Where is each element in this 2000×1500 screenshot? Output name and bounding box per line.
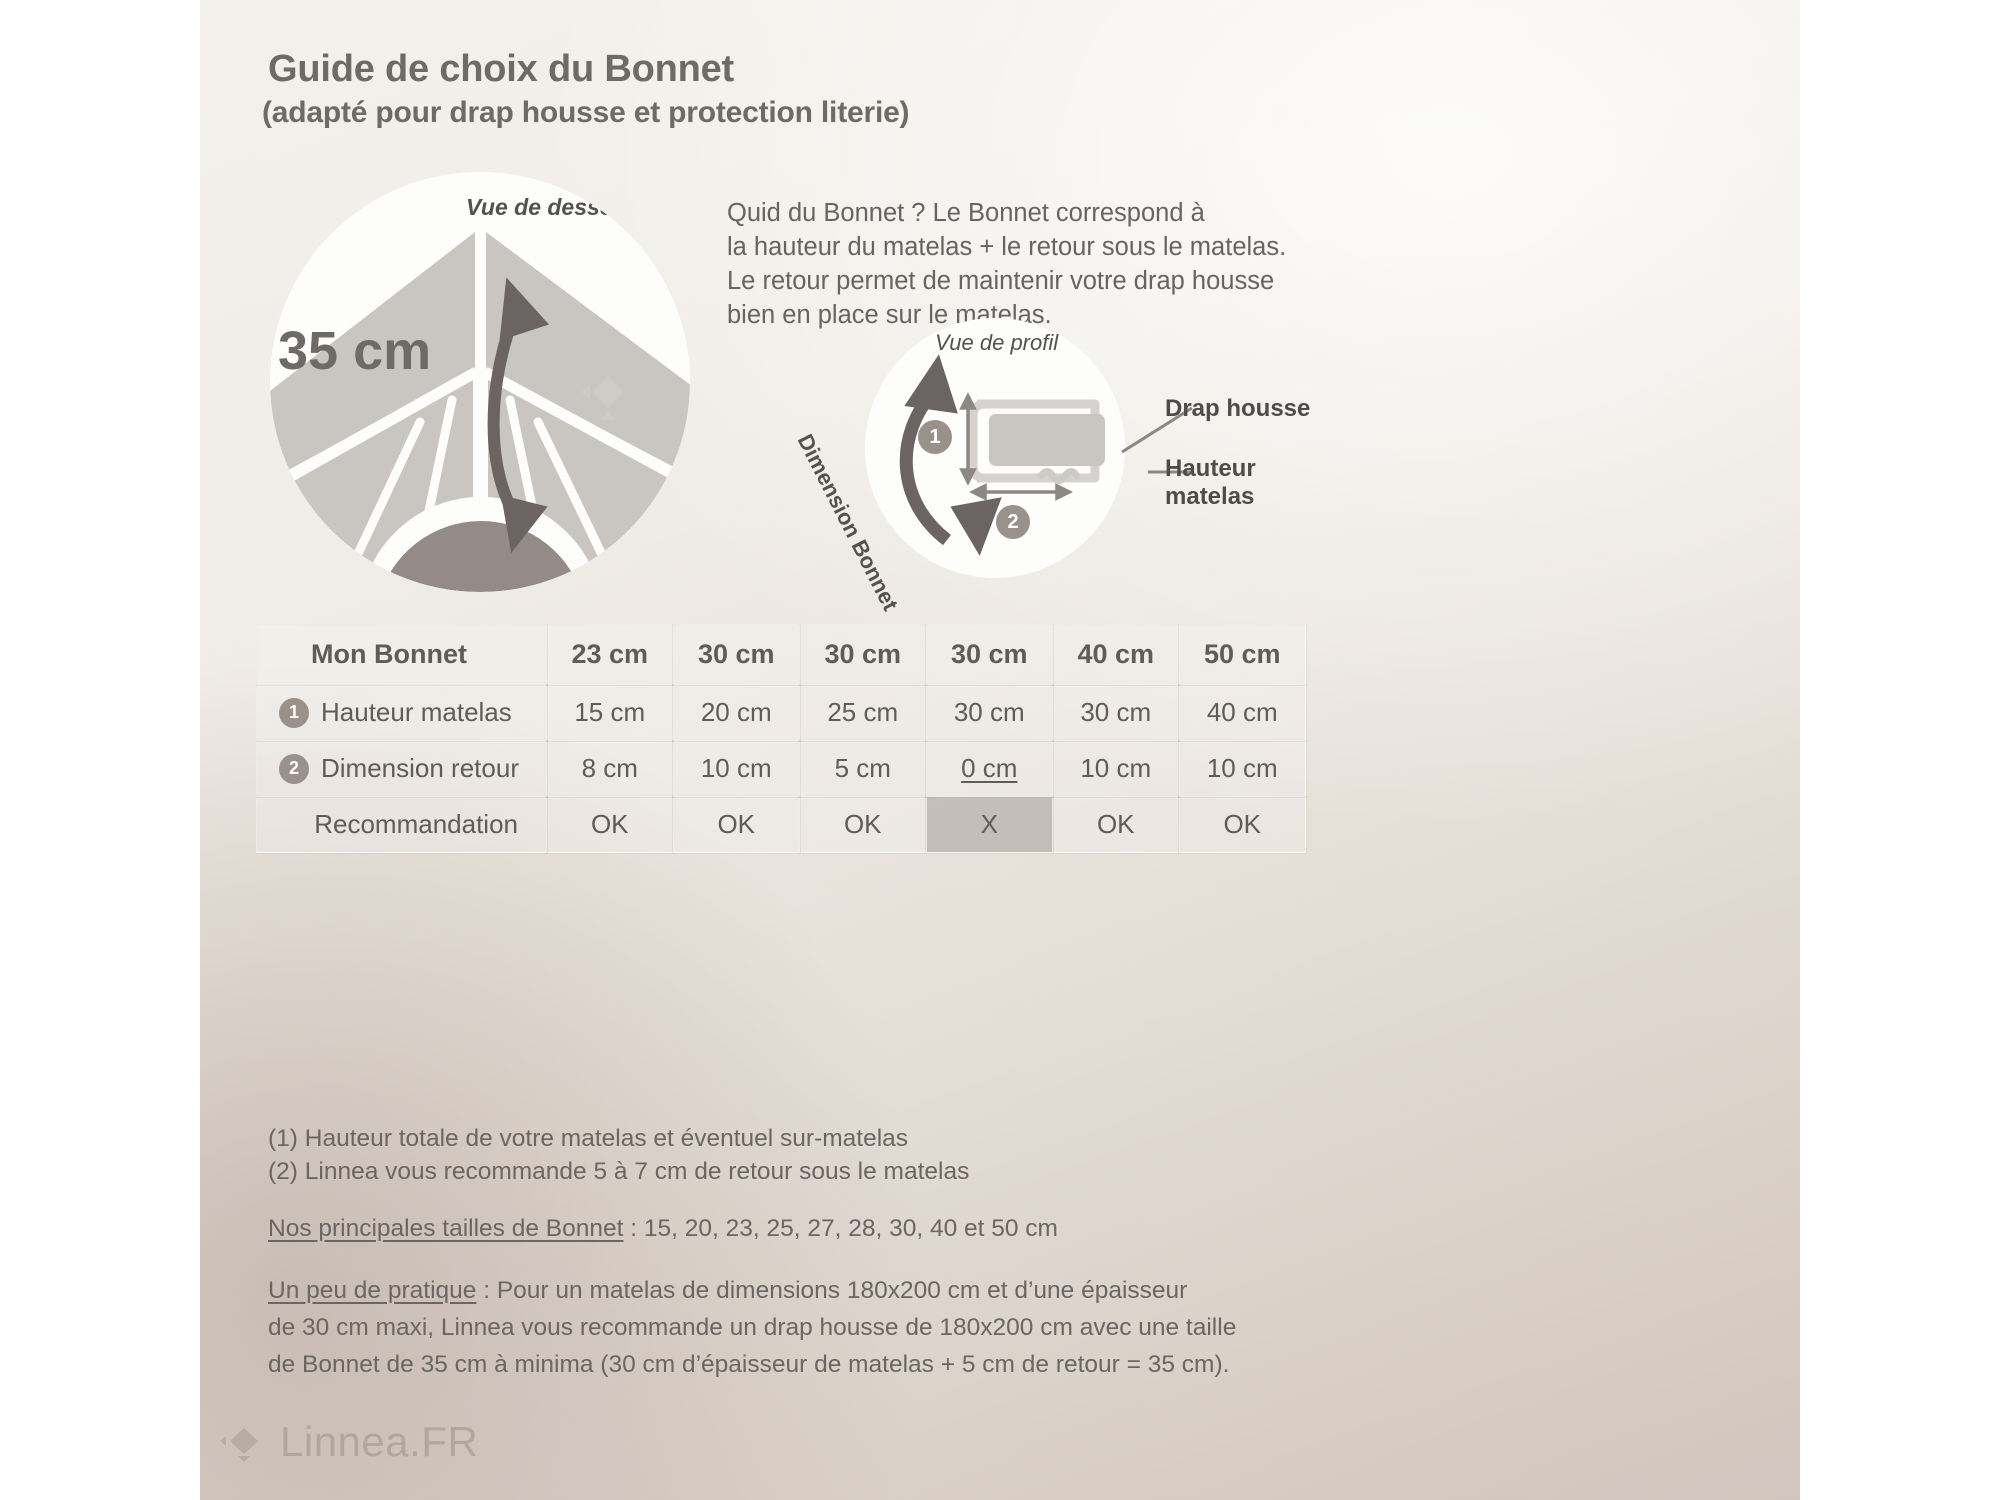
intro-line-1: Quid du Bonnet ? Le Bonnet correspond à bbox=[727, 196, 1347, 230]
paper-sheet: Guide de choix du Bonnet (adapté pour dr… bbox=[200, 0, 1800, 1500]
table-row: 1Hauteur matelas15 cm20 cm25 cm30 cm30 c… bbox=[257, 685, 1306, 741]
intro-line-2: la hauteur du matelas + le retour sous l… bbox=[727, 230, 1347, 264]
table-cell: 30 cm bbox=[1053, 685, 1180, 741]
callout-hauteur-line-2: matelas bbox=[1165, 483, 1256, 511]
table-header-label: Mon Bonnet bbox=[257, 625, 547, 685]
practice-paragraph: Un peu de pratique : Pour un matelas de … bbox=[268, 1272, 1236, 1383]
table-header-cell: 30 cm bbox=[800, 625, 927, 685]
callout-hauteur-matelas: Hauteur matelas bbox=[1165, 455, 1256, 511]
practice-label: Un peu de pratique bbox=[268, 1277, 476, 1304]
figure-bottom-view-label: Vue de dessous bbox=[466, 194, 641, 221]
page-subtitle: (adapté pour drap housse et protection l… bbox=[262, 96, 909, 130]
row-badge: 1 bbox=[279, 698, 309, 728]
table-header-cell: 50 cm bbox=[1179, 625, 1306, 685]
sizes-value: : 15, 20, 23, 25, 27, 28, 30, 40 et 50 c… bbox=[623, 1215, 1058, 1242]
practice-line-3: de Bonnet de 35 cm à minima (30 cm d’épa… bbox=[268, 1346, 1236, 1383]
practice-line-1-text: : Pour un matelas de dimensions 180x200 … bbox=[476, 1277, 1187, 1304]
table-cell: OK bbox=[1179, 797, 1306, 853]
table-row-label: 1Hauteur matelas bbox=[257, 685, 547, 741]
figure-badge-2: 2 bbox=[996, 505, 1030, 539]
linnea-logo-tld: .FR bbox=[409, 1418, 478, 1465]
table-cell: 5 cm bbox=[800, 741, 927, 797]
table-header-cell: 30 cm bbox=[926, 625, 1053, 685]
linnea-logo: Linnea.FR bbox=[220, 1418, 478, 1466]
table-header-row: Mon Bonnet23 cm30 cm30 cm30 cm40 cm50 cm bbox=[257, 625, 1306, 685]
intro-paragraph: Quid du Bonnet ? Le Bonnet correspond à … bbox=[727, 196, 1347, 332]
figure-profile-view bbox=[865, 318, 1125, 578]
table-cell: 0 cm bbox=[926, 741, 1053, 797]
sizes-line: Nos principales tailles de Bonnet : 15, … bbox=[268, 1212, 1058, 1245]
linnea-logo-text: Linnea.FR bbox=[280, 1418, 478, 1466]
table-cell: 30 cm bbox=[926, 685, 1053, 741]
table-cell: OK bbox=[547, 797, 674, 853]
figure-badge-1: 1 bbox=[918, 420, 952, 454]
figure-bottom-measure-label: 35 cm bbox=[278, 320, 431, 382]
mattress-profile-illustration bbox=[865, 318, 1125, 578]
table-cell: OK bbox=[673, 797, 800, 853]
infographic-canvas: Guide de choix du Bonnet (adapté pour dr… bbox=[0, 0, 2000, 1500]
table-cell: 20 cm bbox=[673, 685, 800, 741]
table-cell: 10 cm bbox=[1053, 741, 1180, 797]
table-cell: OK bbox=[800, 797, 927, 853]
callout-drap-housse: Drap housse bbox=[1165, 395, 1310, 423]
table-header-cell: 23 cm bbox=[547, 625, 674, 685]
table-row: 2Dimension retour8 cm10 cm5 cm0 cm10 cm1… bbox=[257, 741, 1306, 797]
cell-value-underlined: 0 cm bbox=[961, 753, 1017, 783]
footnote-1: (1) Hauteur totale de votre matelas et é… bbox=[268, 1122, 908, 1155]
table-row: RecommandationOKOKOKXOKOK bbox=[257, 797, 1306, 853]
linnea-diamond-icon bbox=[220, 1422, 268, 1462]
table-cell: OK bbox=[1053, 797, 1180, 853]
table-header-cell: 30 cm bbox=[673, 625, 800, 685]
table-cell: 40 cm bbox=[1179, 685, 1306, 741]
practice-line-2: de 30 cm maxi, Linnea vous recommande un… bbox=[268, 1309, 1236, 1346]
table-cell: 10 cm bbox=[1179, 741, 1306, 797]
table-header-cell: 40 cm bbox=[1053, 625, 1180, 685]
intro-line-3: Le retour permet de maintenir votre drap… bbox=[727, 264, 1347, 298]
table-cell: 8 cm bbox=[547, 741, 674, 797]
table-cell: 25 cm bbox=[800, 685, 927, 741]
row-badge: 2 bbox=[279, 754, 309, 784]
page-title: Guide de choix du Bonnet bbox=[268, 48, 734, 91]
table-cell: 10 cm bbox=[673, 741, 800, 797]
bonnet-table-wrapper: Mon Bonnet23 cm30 cm30 cm30 cm40 cm50 cm… bbox=[256, 624, 1306, 853]
table-row-label: Recommandation bbox=[257, 797, 547, 853]
callout-hauteur-line-1: Hauteur bbox=[1165, 455, 1256, 483]
footnote-2: (2) Linnea vous recommande 5 à 7 cm de r… bbox=[268, 1155, 969, 1188]
table-row-label: 2Dimension retour bbox=[257, 741, 547, 797]
table-cell: 15 cm bbox=[547, 685, 674, 741]
table-cell: X bbox=[926, 797, 1053, 853]
linnea-logo-name: Linnea bbox=[280, 1418, 409, 1465]
mattress-corner-illustration bbox=[270, 172, 690, 592]
practice-line-1: Un peu de pratique : Pour un matelas de … bbox=[268, 1272, 1236, 1309]
bonnet-table: Mon Bonnet23 cm30 cm30 cm30 cm40 cm50 cm… bbox=[256, 624, 1306, 853]
sizes-label: Nos principales tailles de Bonnet bbox=[268, 1215, 623, 1242]
figure-profile-view-label: Vue de profil bbox=[935, 330, 1058, 356]
figure-bottom-view: Vue de dessous 35 cm bbox=[270, 172, 690, 592]
